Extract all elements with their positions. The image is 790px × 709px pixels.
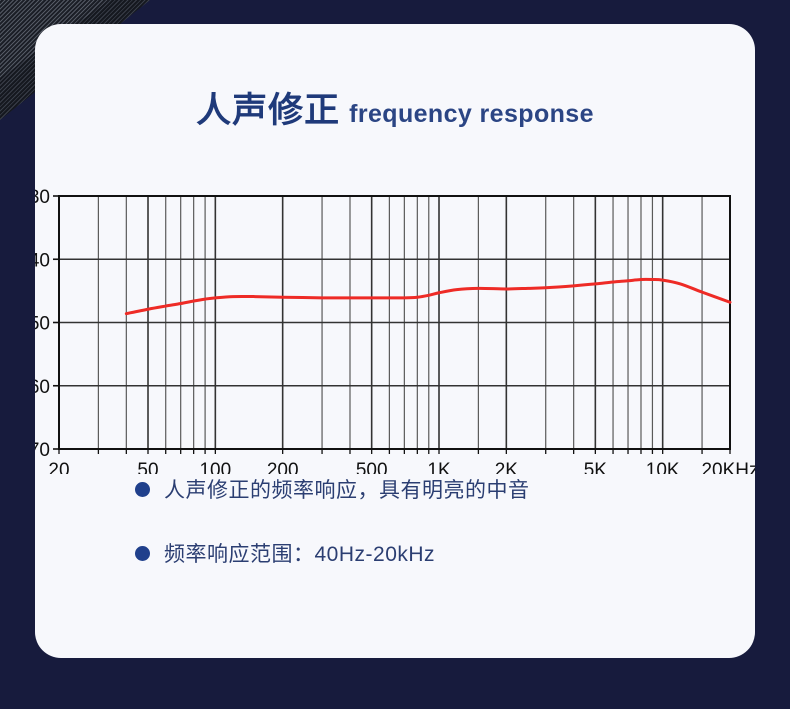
content-card: 人声修正frequency response -30-40-50-60-70 2…: [35, 24, 755, 658]
frequency-response-chart: -30-40-50-60-70 20501002005001K2K5K10K20…: [35, 144, 755, 474]
x-tick-label: 1K: [427, 460, 451, 474]
page-title: 人声修正frequency response: [35, 82, 755, 133]
list-item: 频率响应范围：40Hz-20kHz: [135, 538, 755, 568]
list-item: 人声修正的频率响应，具有明亮的中音: [135, 474, 755, 504]
x-tick-label: 500: [356, 460, 388, 474]
y-tick-label: -70: [35, 440, 50, 461]
y-tick-label: -40: [35, 250, 50, 271]
title-chinese: 人声修正: [196, 91, 340, 130]
x-tick-label: 20KHz: [701, 460, 755, 474]
x-tick-label: 10K: [646, 460, 680, 474]
y-tick-label: -30: [35, 187, 50, 208]
y-tick-label: -60: [35, 377, 50, 398]
bullet-list: 人声修正的频率响应，具有明亮的中音 频率响应范围：40Hz-20kHz: [135, 474, 755, 602]
x-tick-label: 20: [48, 460, 69, 474]
bullet-dot-icon: [135, 482, 150, 497]
bullet-text: 频率响应范围：40Hz-20kHz: [164, 538, 435, 568]
x-tick-label: 2K: [495, 460, 519, 474]
frequency-response-plot: -30-40-50-60-70 20501002005001K2K5K10K20…: [35, 144, 755, 474]
x-tick-label: 5K: [584, 460, 608, 474]
x-tick-label: 50: [137, 460, 158, 474]
bullet-dot-icon: [135, 546, 150, 561]
bullet-text: 人声修正的频率响应，具有明亮的中音: [164, 474, 530, 504]
title-english: frequency response: [349, 100, 594, 128]
y-tick-label: -50: [35, 314, 50, 335]
x-tick-label: 100: [199, 460, 231, 474]
x-tick-label: 200: [267, 460, 299, 474]
